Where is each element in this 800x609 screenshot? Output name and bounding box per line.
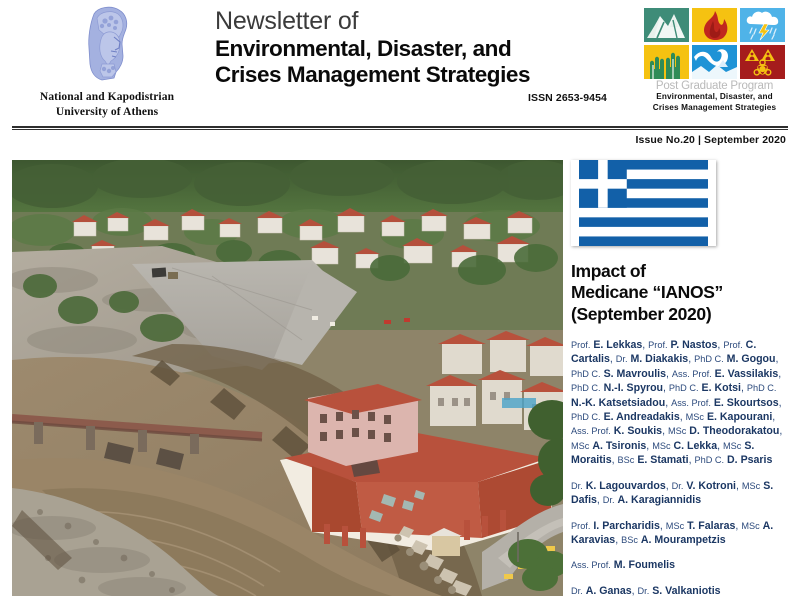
issn-label: ISSN 2653-9454 [215,92,625,104]
landslide-icon [644,8,689,42]
flood-wave-icon [692,45,737,79]
program-caption-line2: Crises Management Strategies [641,103,788,114]
newsletter-title-line2: Crises Management Strategies [215,62,625,88]
author-group: Prof. I. Parcharidis, MSc T. Falaras, MS… [571,519,789,548]
postgraduate-program-logo: Post Graduate Program Environmental, Dis… [641,8,788,113]
article-title: Impact of Medicane “IANOS” (September 20… [571,261,793,325]
newsletter-cover: National and Kapodistrian University of … [0,0,800,600]
storm-icon [740,8,785,42]
newsletter-title-line1: Environmental, Disaster, and [215,36,625,62]
program-caption-body: Environmental, Disaster, and Crises Mana… [641,92,788,113]
program-caption-top: Post Graduate Program [641,80,788,92]
author-group: Dr. A. Ganas, Dr. S. Valkaniotis [571,584,789,598]
athena-head-crest-icon [78,4,136,88]
newsletter-title: Environmental, Disaster, and Crises Mana… [215,36,625,88]
author-group: Prof. E. Lekkas, Prof. P. Nastos, Prof. … [571,338,789,468]
header-divider [12,126,788,130]
divider-thin [12,129,788,130]
article-title-line3: (September 2020) [571,304,793,325]
cover-photo [12,160,563,596]
people-hands-icon [644,45,689,79]
masthead-title: Newsletter of Environmental, Disaster, a… [215,8,625,104]
author-group: Dr. K. Lagouvardos, Dr. V. Kotroni, MSc … [571,479,789,508]
article-title-line2: Medicane “IANOS” [571,282,793,303]
hazard-biohazard-icon [740,45,785,79]
author-group: Ass. Prof. M. Foumelis [571,558,789,572]
fire-icon [692,8,737,42]
issue-label: Issue No.20 | September 2020 [636,134,786,146]
greece-flag-icon [571,160,716,246]
flood-damage-aerial-photo [12,160,563,596]
divider-thick [12,126,788,128]
program-caption-line1: Environmental, Disaster, and [641,92,788,103]
article-title-line1: Impact of [571,261,793,282]
page-header: National and Kapodistrian University of … [0,0,800,128]
university-name: National and Kapodistrian University of … [12,90,202,119]
program-icon-grid [644,8,785,79]
article-column: Impact of Medicane “IANOS” (September 20… [571,160,793,609]
university-branding: National and Kapodistrian University of … [12,4,202,119]
author-list: Prof. E. Lekkas, Prof. P. Nastos, Prof. … [571,338,789,598]
newsletter-prefix: Newsletter of [215,8,625,34]
university-name-line1: National and Kapodistrian [40,91,174,103]
university-name-line2: University of Athens [56,106,158,118]
